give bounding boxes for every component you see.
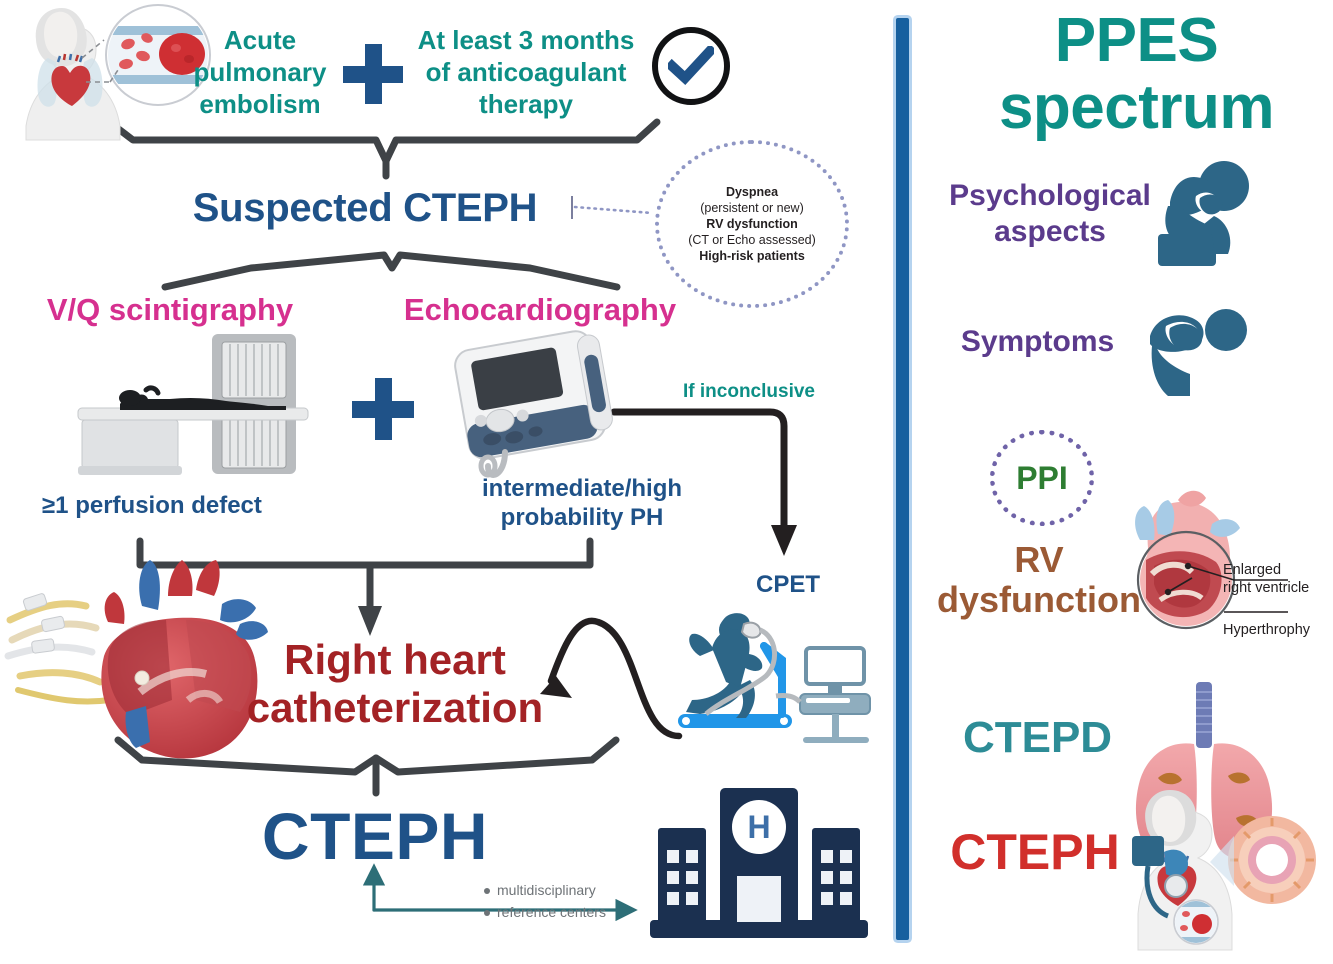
ppi-circle: PPI [990, 430, 1094, 526]
item-ppi: PPI [1016, 460, 1068, 497]
right-heart-catheterization-label: Right heart catheterization [215, 636, 575, 732]
cpet-illustration [678, 613, 870, 740]
criteria-circle: Dyspnea (persistent or new) RV dysfuncti… [655, 140, 849, 308]
checkmark-badge [652, 27, 730, 105]
heart-rv-icon [1135, 491, 1288, 630]
item-symptoms: Symptoms [930, 325, 1145, 359]
criteria-line-5: High-risk patients [699, 249, 805, 263]
echo-machine-illustration [453, 327, 616, 475]
criteria-line-2: (persistent or new) [700, 201, 804, 215]
probability-ph-label: intermediate/high probability PH [452, 474, 712, 533]
cteph-result-label: CTEPH [200, 798, 550, 874]
person-head-in-hands-icon [1158, 161, 1249, 266]
ppes-spectrum-title: PPES spectrum [940, 8, 1333, 142]
lungs-icon [1136, 682, 1272, 859]
bullet-dot-icon [484, 910, 490, 916]
person-bent-over-icon [1150, 309, 1247, 396]
patient-bp-icon [1132, 790, 1316, 950]
criteria-line-1: Dyspnea [726, 185, 778, 199]
item-psychological-aspects: Psychological aspects [930, 178, 1170, 250]
criteria-line-3: RV dysfunction [706, 217, 797, 231]
rv-callout-hyperthrophy: Hyperthrophy [1223, 622, 1333, 639]
bullet-reference-centers: reference centers [484, 902, 606, 924]
item-ctepd: CTEPD [945, 713, 1130, 763]
criteria-line-4: (CT or Echo assessed) [688, 233, 816, 247]
referral-bullets: multidisciplinary reference centers [484, 880, 606, 923]
if-inconclusive-label: If inconclusive [683, 381, 815, 403]
svg-text:H: H [747, 809, 770, 845]
hospital-icon: H [650, 788, 868, 938]
acute-pe-label: Acute pulmonary embolism [175, 24, 345, 121]
criteria-text: Dyspnea (persistent or new) RV dysfuncti… [688, 184, 816, 264]
perfusion-defect-label: ≥1 perfusion defect [42, 492, 342, 520]
suspected-cteph-label: Suspected CTEPH [150, 186, 580, 231]
item-rv-dysfunction: RV dysfunction [930, 540, 1148, 621]
vq-scintigraphy-label: V/Q scintigraphy [20, 292, 320, 328]
plus-icon-1 [343, 44, 403, 104]
item-cteph: CTEPH [935, 823, 1135, 881]
rv-callout-enlarged: Enlarged right ventricle [1223, 562, 1333, 597]
anticoagulant-label: At least 3 months of anticoagulant thera… [406, 24, 646, 121]
bullet-multidisciplinary: multidisciplinary [484, 880, 606, 902]
plus-icon-2 [352, 378, 414, 440]
infographic-canvas: H [0, 0, 1333, 964]
panel-divider [896, 18, 909, 940]
bullet-dot-icon [484, 888, 490, 894]
check-icon [668, 46, 714, 86]
cpet-label: CPET [756, 571, 820, 599]
echocardiography-label: Echocardiography [380, 292, 700, 328]
vq-scanner-illustration [78, 334, 308, 475]
